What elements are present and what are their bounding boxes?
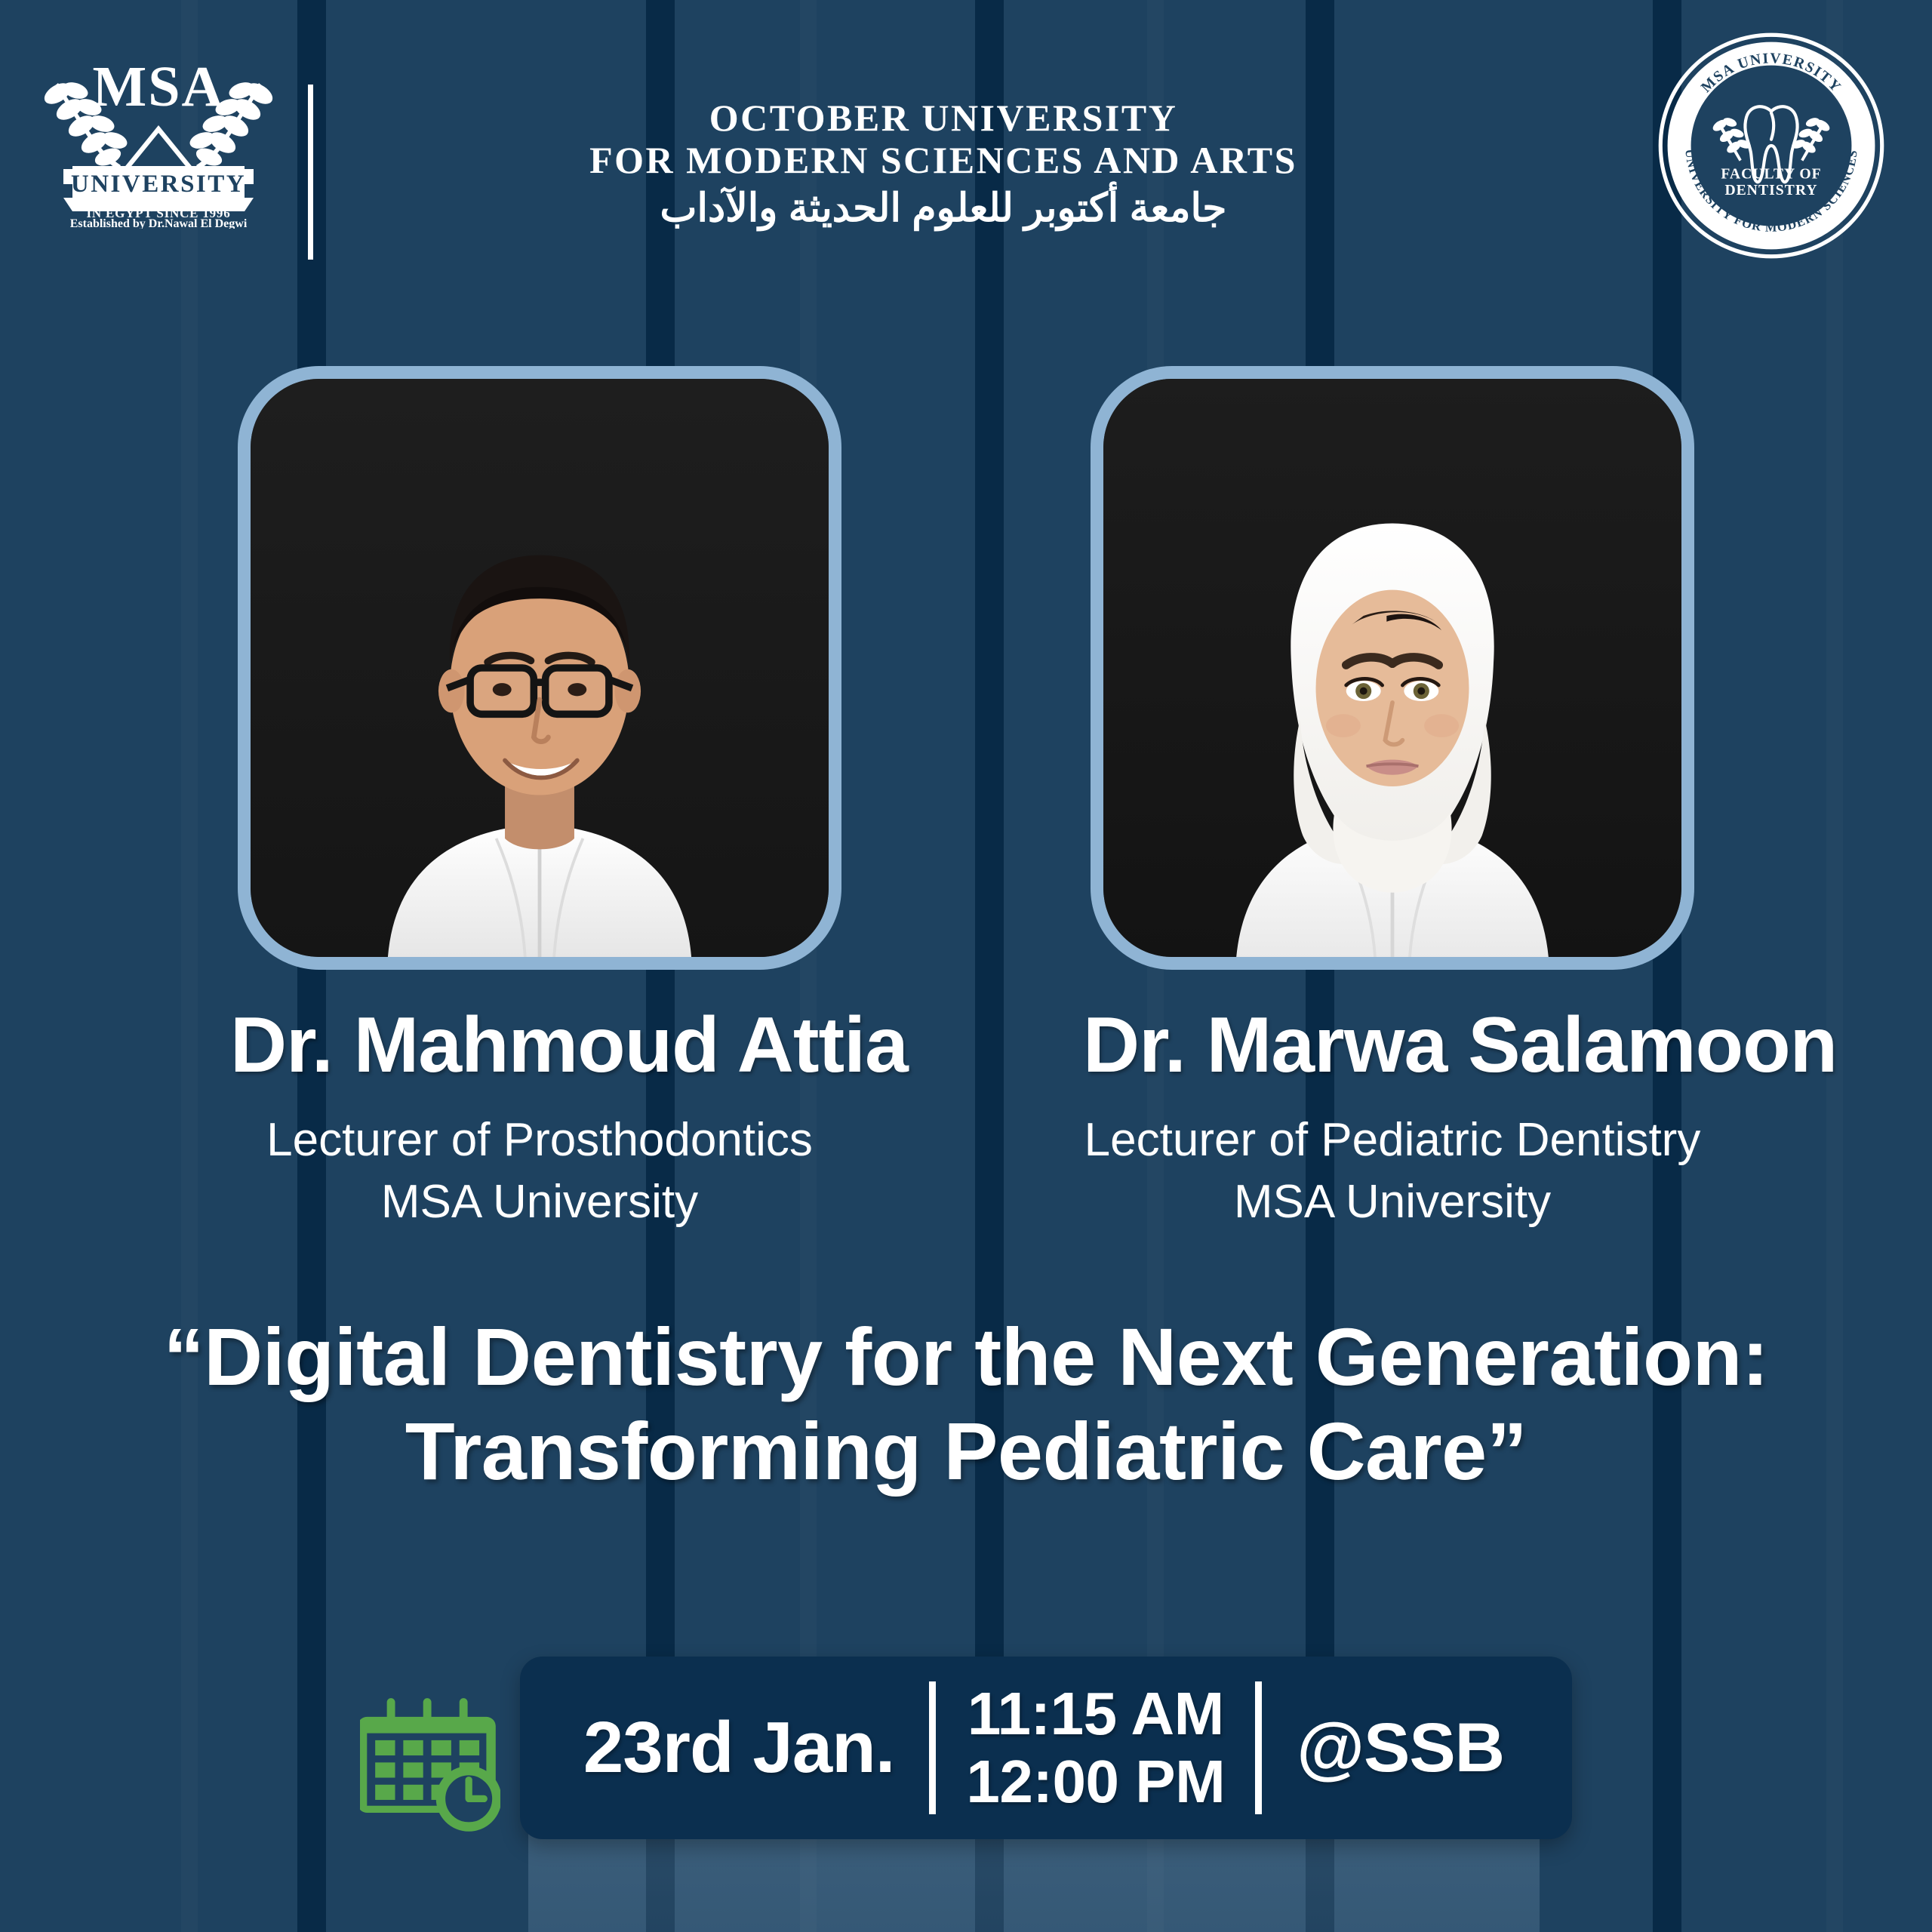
faculty-of-dentistry-seal: MSA UNIVERSITY OCTOBER UNIVERSITY FOR MO…: [1654, 29, 1888, 263]
svg-text:Established by Dr.Nawal El Deg: Established by Dr.Nawal El Degwi: [70, 217, 248, 229]
speaker-organization: MSA University: [1083, 1171, 1702, 1233]
info-separator: [1255, 1681, 1262, 1814]
speaker-card-1: Dr. Mahmoud Attia Lecturer of Prosthodon…: [230, 366, 849, 1233]
lecture-title: “Digital Dentistry for the Next Generati…: [45, 1309, 1887, 1499]
speaker-organization: MSA University: [230, 1171, 849, 1233]
event-info-bar: 23rd Jan. 11:15 AM 12:00 PM @SSB: [520, 1657, 1572, 1839]
event-poster: MSA UNIVERSITY IN EGYPT SINCE 1996 Estab…: [0, 0, 1932, 1932]
event-times: 11:15 AM 12:00 PM: [936, 1680, 1255, 1815]
speaker-name: Dr. Marwa Salamoon: [1083, 1004, 1702, 1087]
svg-text:FACULTY OF: FACULTY OF: [1721, 166, 1821, 182]
event-info-row: 23rd Jan. 11:15 AM 12:00 PM @SSB: [0, 1657, 1932, 1839]
event-venue: @SSB: [1262, 1709, 1530, 1788]
event-time-start: 11:15 AM: [966, 1680, 1225, 1748]
speaker-photo-frame-2: [1091, 366, 1694, 970]
speaker-role: Lecturer of Pediatric Dentistry: [1083, 1109, 1702, 1171]
info-separator: [929, 1681, 936, 1814]
event-date: 23rd Jan.: [562, 1706, 930, 1789]
header-divider: [308, 85, 313, 260]
speaker-photo-frame-1: [238, 366, 841, 970]
speaker-photo-2: [1103, 379, 1681, 957]
poster-header: MSA UNIVERSITY IN EGYPT SINCE 1996 Estab…: [0, 0, 1932, 302]
svg-text:UNIVERSITY: UNIVERSITY: [71, 171, 246, 198]
msa-university-logo: MSA UNIVERSITY IN EGYPT SINCE 1996 Estab…: [23, 36, 294, 229]
speaker-photo-1: [251, 379, 829, 957]
lecture-title-line2: Transforming Pediatric Care”: [45, 1404, 1887, 1498]
university-name-line1: OCTOBER UNIVERSITY: [332, 97, 1555, 139]
speakers-section: Dr. Mahmoud Attia Lecturer of Prosthodon…: [0, 366, 1932, 1233]
svg-text:DENTISTRY: DENTISTRY: [1724, 183, 1817, 198]
speaker-card-2: Dr. Marwa Salamoon Lecturer of Pediatric…: [1083, 366, 1702, 1233]
speaker-role: Lecturer of Prosthodontics: [230, 1109, 849, 1171]
speaker-name: Dr. Mahmoud Attia: [230, 1004, 849, 1087]
university-name-line2: FOR MODERN SCIENCES AND ARTS: [332, 139, 1555, 181]
event-time-end: 12:00 PM: [966, 1748, 1225, 1816]
university-name-block: OCTOBER UNIVERSITY FOR MODERN SCIENCES A…: [332, 97, 1555, 233]
lecture-title-line1: “Digital Dentistry for the Next Generati…: [164, 1311, 1769, 1402]
svg-text:MSA: MSA: [93, 55, 225, 118]
university-name-arabic: جامعة أكتوبر للعلوم الحديثة والآداب: [332, 184, 1555, 233]
calendar-clock-icon: [360, 1696, 500, 1836]
